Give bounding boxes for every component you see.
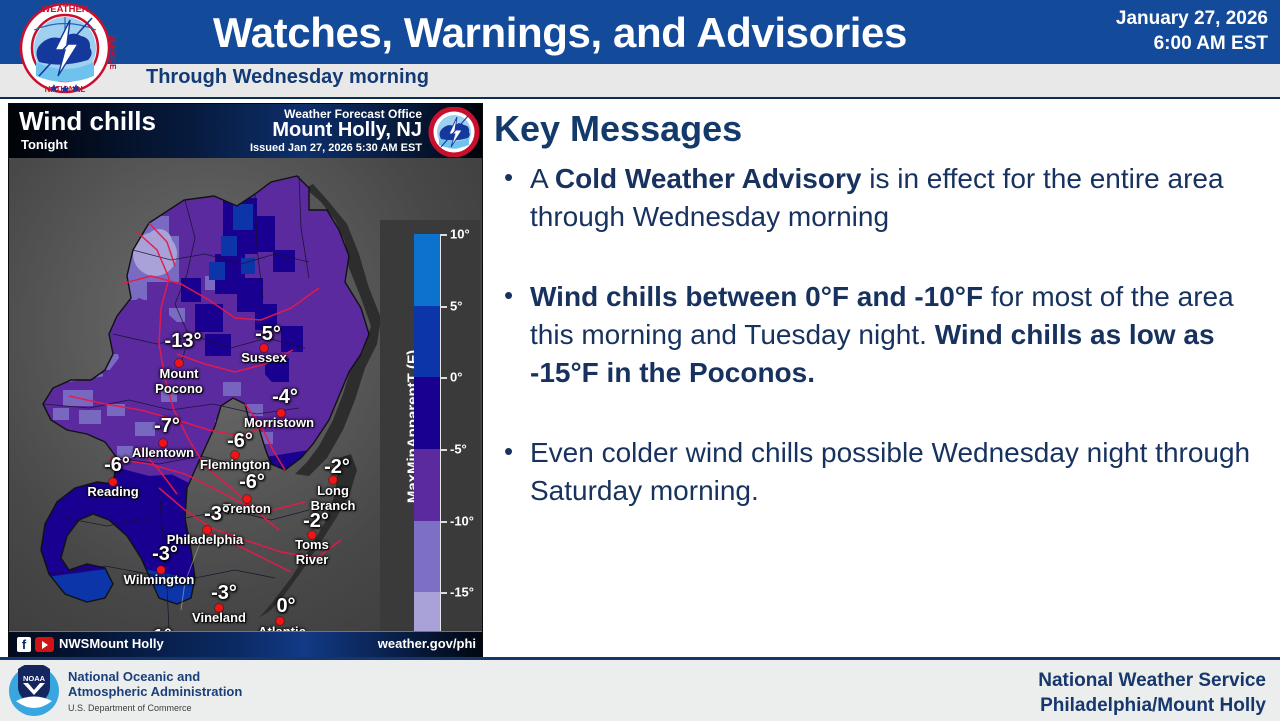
map-period: Tonight (21, 137, 68, 152)
nws-footer-text: National Weather Service Philadelphia/Mo… (1038, 668, 1266, 718)
key-message-item: Even colder wind chills possible Wednesd… (492, 434, 1272, 510)
key-message-emphasis: Cold Weather Advisory (555, 163, 862, 194)
colorbar-tick-label: 0° (450, 370, 462, 385)
city-value: 0° (276, 595, 295, 618)
colorbar-segment (414, 449, 440, 521)
footer-bar: NOAA National Oceanic and Atmospheric Ad… (0, 657, 1280, 721)
city-value: -6° (239, 471, 265, 494)
city-value: -5° (255, 323, 281, 346)
city-label-line: Vineland (192, 610, 246, 625)
city-label-line: Reading (87, 484, 138, 499)
colorbar-tick (440, 377, 447, 379)
colorbar-tick (440, 521, 447, 523)
noaa-line-3: U.S. Department of Commerce (68, 703, 192, 713)
key-message-text: A (530, 163, 555, 194)
city-label: Sussex (241, 350, 287, 365)
noaa-line-2: Atmospheric Administration (68, 684, 242, 699)
header-time: 6:00 AM EST (1116, 31, 1268, 56)
city-value: -3° (204, 503, 230, 526)
key-messages-title: Key Messages (494, 108, 1272, 150)
city-label-line: Allentown (132, 445, 194, 460)
colorbar-tick-label: -5° (450, 442, 467, 457)
colorbar-segment (414, 306, 440, 378)
city-label-line: Toms (295, 537, 329, 552)
colorbar: MaxMinApparentT (F) 10°5°0°-5°-10°-15°-2… (380, 220, 480, 658)
nws-footer-line-2: Philadelphia/Mount Holly (1038, 693, 1266, 718)
city-label: MountPocono (155, 366, 203, 396)
city-label: LongBranch (311, 483, 356, 513)
city-value: -3° (152, 543, 178, 566)
city-label-line: Flemington (200, 457, 270, 472)
header-datetime: January 27, 2026 6:00 AM EST (1116, 6, 1268, 56)
city-label: TomsRiver (295, 537, 329, 567)
colorbar-segment (414, 234, 440, 306)
city-label-line: River (295, 552, 329, 567)
map-canvas[interactable]: MountPocono-13°Sussex-5°Morristown-4°All… (9, 158, 483, 633)
office-url[interactable]: weather.gov/phi (378, 636, 476, 651)
city-label: Allentown (132, 445, 194, 460)
city-label-line: Pocono (155, 381, 203, 396)
colorbar-tick (440, 592, 447, 594)
colorbar-segment (414, 377, 440, 449)
colorbar-tick (440, 449, 447, 451)
noaa-logo-icon: NOAA (8, 665, 60, 717)
city-label: Flemington (200, 457, 270, 472)
noaa-line-1: National Oceanic and (68, 669, 200, 684)
key-message-text: Even colder wind chills possible Wednesd… (530, 437, 1250, 506)
colorbar-tick (440, 306, 447, 308)
city-value: -13° (165, 330, 202, 353)
nws-roundel-icon: WEATHER NATIONAL SERVICE (6, 0, 124, 96)
city-value: -6° (227, 430, 253, 453)
city-label-line: Philadelphia (167, 532, 244, 547)
colorbar-tick (440, 234, 447, 236)
city-label: Morristown (244, 415, 314, 430)
page-title: Watches, Warnings, and Advisories (140, 4, 980, 62)
header-date: January 27, 2026 (1116, 6, 1268, 31)
city-label-line: Long (311, 483, 356, 498)
key-message-item: A Cold Weather Advisory is in effect for… (492, 160, 1272, 236)
colorbar-tick-label: -15° (450, 585, 474, 600)
facebook-icon[interactable]: f (17, 637, 31, 652)
noaa-wordmark: NOAA (23, 674, 46, 683)
key-message-item: Wind chills between 0°F and -10°F for mo… (492, 278, 1272, 392)
city-label-line: Sussex (241, 350, 287, 365)
svg-text:WEATHER: WEATHER (41, 4, 88, 15)
city-label-line: Wilmington (124, 572, 195, 587)
map-header: Wind chills Tonight Weather Forecast Off… (9, 104, 483, 158)
colorbar-tick-label: 10° (450, 227, 470, 242)
key-messages-panel: Key Messages A Cold Weather Advisory is … (492, 108, 1272, 536)
city-label: Reading (87, 484, 138, 499)
key-messages-list: A Cold Weather Advisory is in effect for… (492, 160, 1272, 510)
city-value: -4° (272, 386, 298, 409)
map-title: Wind chills (19, 106, 156, 137)
city-label: Vineland (192, 610, 246, 625)
city-value: -6° (104, 454, 130, 477)
city-label: Wilmington (124, 572, 195, 587)
youtube-icon[interactable] (35, 637, 54, 652)
city-label: Philadelphia (167, 532, 244, 547)
key-message-spacer (492, 262, 1272, 278)
map-issued-time: Issued Jan 27, 2026 5:30 AM EST (250, 142, 422, 154)
city-value: -2° (303, 510, 329, 533)
colorbar-tick-label: -10° (450, 513, 474, 528)
colorbar-strip (414, 234, 440, 658)
city-value: -7° (154, 415, 180, 438)
nws-roundel-icon-small (428, 107, 480, 157)
header-subtitle: Through Wednesday morning (146, 66, 429, 89)
key-message-emphasis: Wind chills between 0°F and -10°F (530, 281, 983, 312)
forecast-map-panel: Wind chills Tonight Weather Forecast Off… (8, 103, 483, 658)
colorbar-segment (414, 521, 440, 593)
map-footer: f NWSMount Holly weather.gov/phi (9, 631, 483, 657)
city-label-line: Trenton (223, 501, 271, 516)
city-value: -2° (324, 456, 350, 479)
key-message-spacer (492, 418, 1272, 434)
city-label: Trenton (223, 501, 271, 516)
weather-graphic: WEATHER NATIONAL SERVICE Watches, Warnin… (0, 0, 1280, 721)
social-handle: NWSMount Holly (59, 636, 164, 651)
map-office-city: Mount Holly, NJ (272, 119, 422, 142)
city-label-line: Morristown (244, 415, 314, 430)
nws-footer-line-1: National Weather Service (1038, 668, 1266, 693)
colorbar-axis (440, 234, 441, 658)
city-value: -3° (211, 582, 237, 605)
city-label-line: Mount (155, 366, 203, 381)
svg-text:SERVICE: SERVICE (108, 35, 117, 71)
colorbar-tick-label: 5° (450, 298, 462, 313)
